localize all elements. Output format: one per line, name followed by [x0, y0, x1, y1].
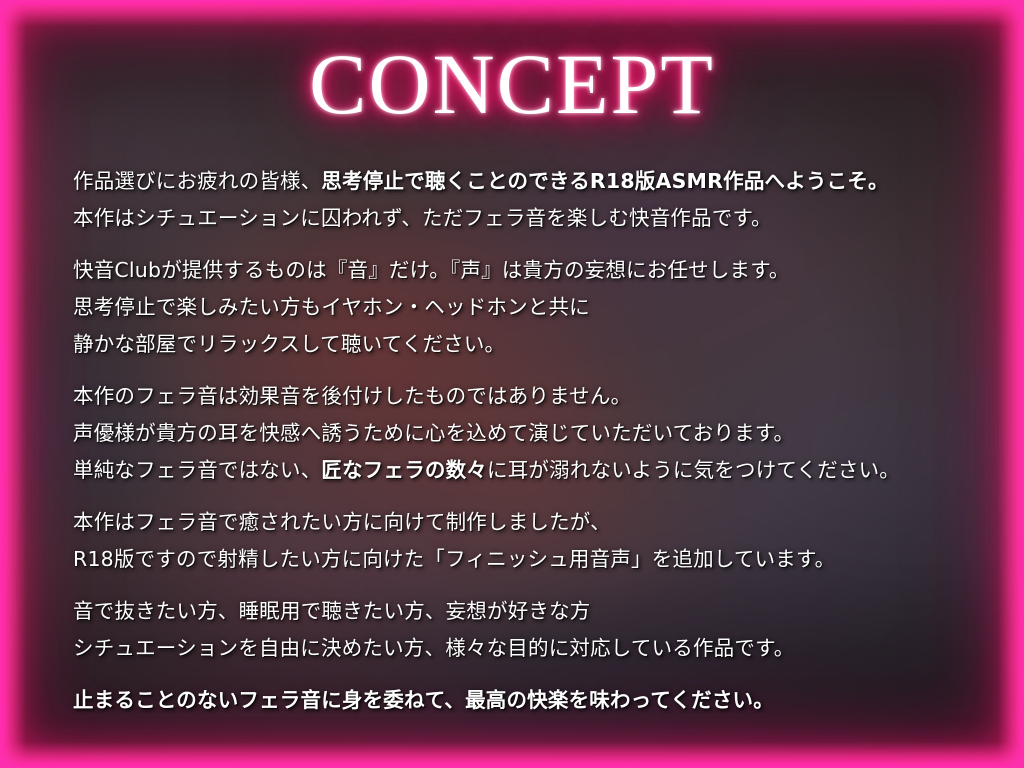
text-line: シチュエーションを自由に決めたい方、様々な目的に対応している作品です。: [73, 630, 984, 667]
paragraph-closing: 止まることのないフェラ音に身を委ねて、最高の快楽を味わってください。: [73, 682, 984, 719]
closing-line: 止まることのないフェラ音に身を委ねて、最高の快楽を味わってください。: [73, 682, 984, 719]
body-text-block: 作品選びにお疲れの皆様、思考停止で聴くことのできるR18版ASMR作品へようこそ…: [73, 163, 984, 719]
text-span-light: 作品選びにお疲れの皆様、: [73, 169, 321, 193]
text-line: 思考停止で楽しみたい方もイヤホン・ヘッドホンと共に: [73, 289, 984, 326]
paragraph-offering: 快音Clubが提供するものは『音』だけ。『声』は貴方の妄想にお任せします。 思考…: [73, 252, 984, 363]
text-line: 音で抜きたい方、睡眠用で聴きたい方、妄想が好きな方: [73, 593, 984, 630]
text-line: 単純なフェラ音ではない、匠なフェラの数々に耳が溺れないように気をつけてください。: [73, 452, 984, 489]
text-line: 作品選びにお疲れの皆様、思考停止で聴くことのできるR18版ASMR作品へようこそ…: [73, 163, 984, 200]
text-span-strong: 匠なフェラの数々: [321, 458, 487, 482]
text-line: 本作はフェラ音で癒されたい方に向けて制作しましたが、: [73, 504, 984, 541]
concept-slide: CONCEPT 作品選びにお疲れの皆様、思考停止で聴くことのできるR18版ASM…: [0, 0, 1024, 768]
page-title: CONCEPT: [0, 38, 1024, 131]
text-span-light: 単純なフェラ音ではない、: [73, 458, 321, 482]
text-line: 本作のフェラ音は効果音を後付けしたものではありません。: [73, 378, 984, 415]
text-line: 本作はシチュエーションに囚われず、ただフェラ音を楽しむ快音作品です。: [73, 200, 984, 237]
text-line: 快音Clubが提供するものは『音』だけ。『声』は貴方の妄想にお任せします。: [73, 252, 984, 289]
paragraph-r18: 本作はフェラ音で癒されたい方に向けて制作しましたが、 R18版ですので射精したい…: [73, 504, 984, 578]
text-line: R18版ですので射精したい方に向けた「フィニッシュ用音声」を追加しています。: [73, 541, 984, 578]
text-line: 声優様が貴方の耳を快感へ誘うために心を込めて演じていただいております。: [73, 415, 984, 452]
text-span-tail: に耳が溺れないように気をつけてください。: [487, 458, 900, 482]
text-line: 静かな部屋でリラックスして聴いてください。: [73, 326, 984, 363]
text-span-strong: 思考停止で聴くことのできるR18版ASMR作品へようこそ。: [321, 169, 888, 193]
slide-content: CONCEPT 作品選びにお疲れの皆様、思考停止で聴くことのできるR18版ASM…: [0, 0, 1024, 768]
paragraph-intro: 作品選びにお疲れの皆様、思考停止で聴くことのできるR18版ASMR作品へようこそ…: [73, 163, 984, 237]
paragraph-authenticity: 本作のフェラ音は効果音を後付けしたものではありません。 声優様が貴方の耳を快感へ…: [73, 378, 984, 489]
paragraph-usecases: 音で抜きたい方、睡眠用で聴きたい方、妄想が好きな方 シチュエーションを自由に決め…: [73, 593, 984, 667]
